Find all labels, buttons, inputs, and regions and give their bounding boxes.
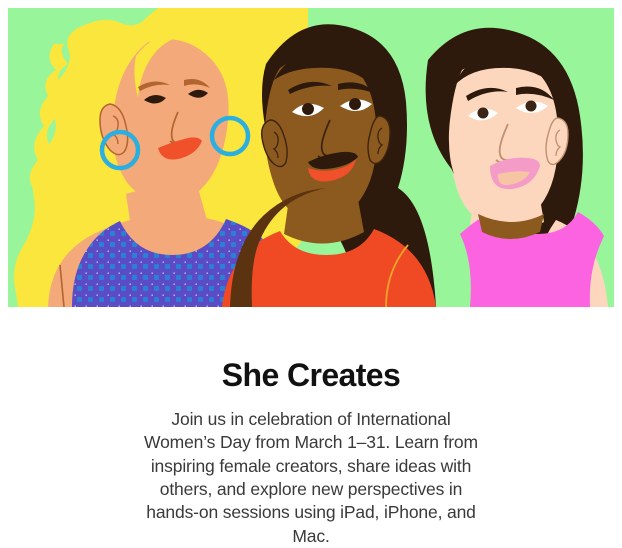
promo-description-line: others, and explore new perspectives in [0,478,622,501]
promo-description-line: Women’s Day from March 1–31. Learn from [0,431,622,454]
three-women-illustration [8,8,614,307]
promo-description-line: Join us in celebration of International [0,408,622,431]
promo-description: Join us in celebration of International … [0,394,622,548]
promo-description-line: hands-on sessions using iPad, iPhone, an… [0,501,622,524]
she-creates-promo-page: She Creates Join us in celebration of In… [0,0,622,548]
promo-description-line: Mac. [0,525,622,548]
promo-text-block: She Creates Join us in celebration of In… [0,307,622,548]
hero-illustration [8,8,614,307]
promo-description-line: inspiring female creators, share ideas w… [0,455,622,478]
right-figure-face [449,57,558,226]
page-title: She Creates [0,307,622,394]
